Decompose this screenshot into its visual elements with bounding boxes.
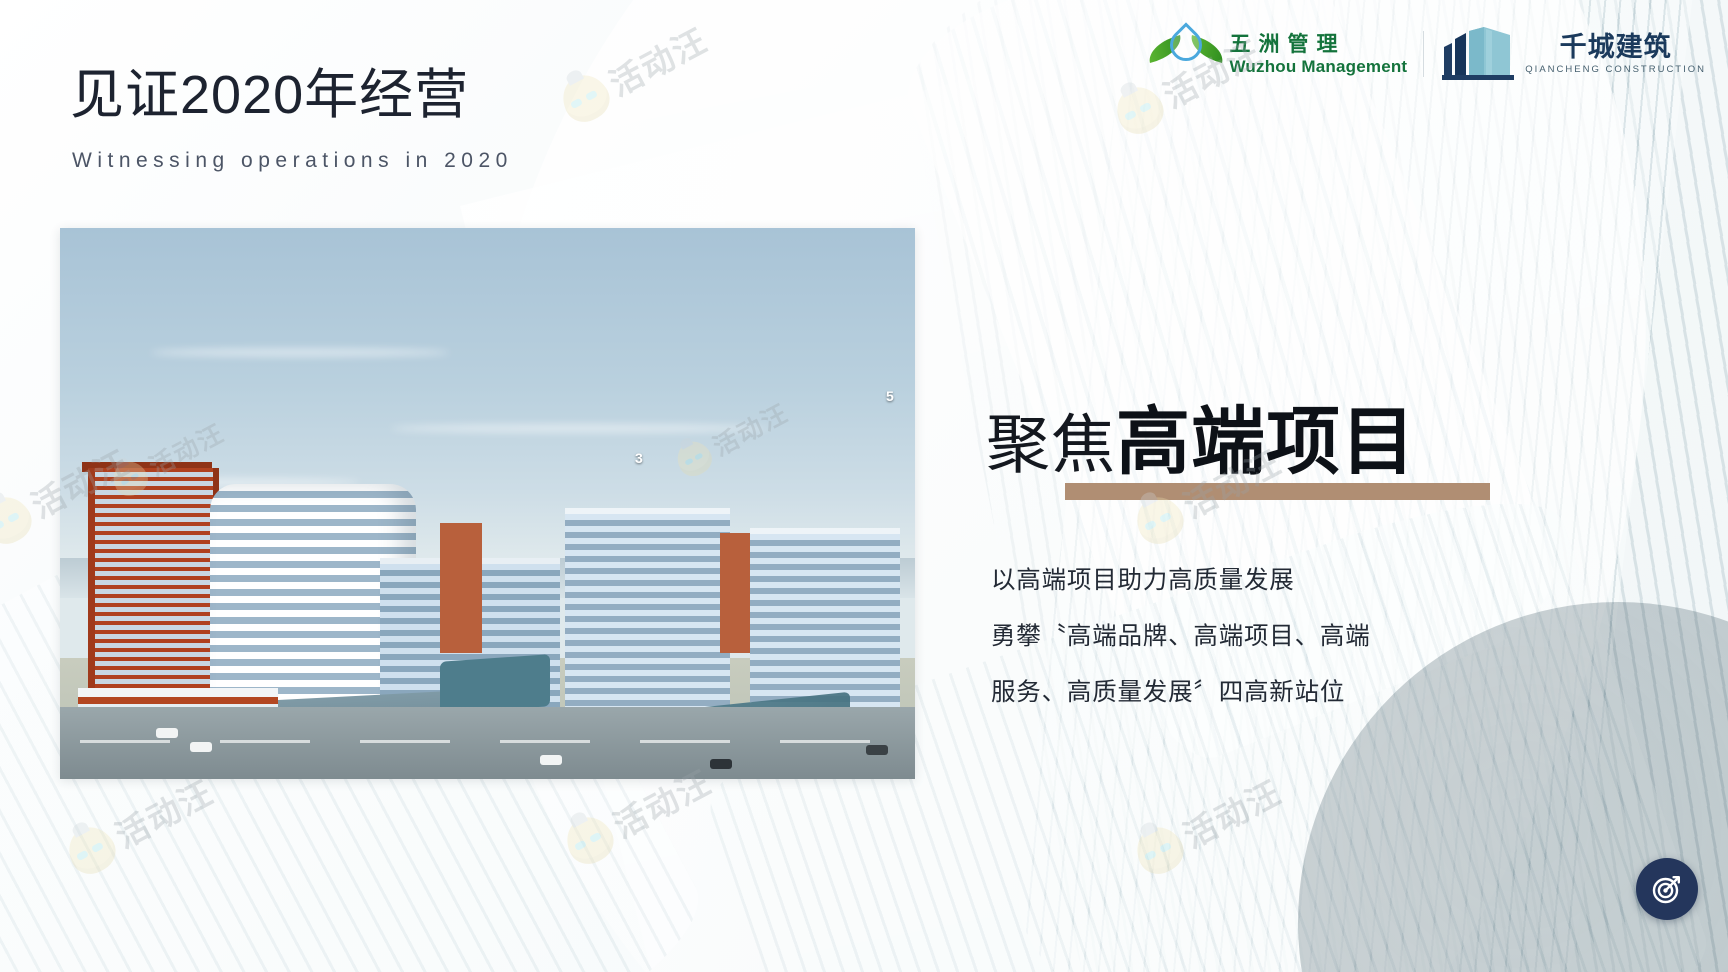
photo-pool: [440, 654, 550, 714]
logo-wuzhou-management: 五洲管理 Wuzhou Management: [1147, 23, 1407, 85]
waterdrop-icon: [1164, 22, 1209, 67]
logo-wuzhou-en: Wuzhou Management: [1229, 58, 1407, 75]
headline-prefix: 聚焦: [986, 409, 1116, 481]
body-line: 以高端项目助力高质量发展: [991, 553, 1421, 609]
logo-bar: 五洲管理 Wuzhou Management 千城建筑 QIANCHEN: [1147, 18, 1706, 90]
leaf-waterdrop-icon: [1147, 23, 1225, 85]
watermark: 活动汪: [1128, 766, 1289, 882]
photo-road-marking: [80, 740, 170, 743]
photo-road-marking: [360, 740, 450, 743]
photo-car: [190, 742, 212, 752]
logo-qiancheng-cn: 千城建筑: [1560, 34, 1672, 61]
logo-qiancheng-text: 千城建筑 QIANCHENG CONSTRUCTION: [1525, 34, 1706, 75]
logo-wuzhou-text: 五洲管理 Wuzhou Management: [1229, 34, 1407, 75]
building-icon-svg: [1440, 25, 1516, 83]
body-paragraph: 以高端项目助力高质量发展 勇攀〝高端品牌、高端项目、高端 服务、高质量发展〞四高…: [991, 553, 1421, 721]
watermark-mascot-icon: [554, 67, 616, 129]
photo-building-brick-a: [440, 523, 482, 653]
photo-road-marking: [220, 740, 310, 743]
watermark-mascot-icon: [60, 819, 122, 881]
building-icon: [1440, 25, 1516, 83]
watermark-mascot-icon: [0, 489, 39, 551]
watermark: 活动汪: [60, 766, 221, 882]
headline-emphasis: 高端项目: [1116, 400, 1416, 483]
logo-qiancheng-construction: 千城建筑 QIANCHENG CONSTRUCTION: [1440, 25, 1706, 83]
photo-car: [156, 728, 178, 738]
photo-road-marking: [640, 740, 730, 743]
page-subtitle: Witnessing operations in 2020: [72, 150, 513, 171]
project-photo: 3 5: [60, 228, 915, 779]
watermark-text: 活动汪: [1174, 766, 1289, 858]
page-title: 见证2020年经营: [70, 68, 469, 122]
logo-qiancheng-en: QIANCHENG CONSTRUCTION: [1525, 65, 1706, 75]
watermark-mascot-icon: [1128, 819, 1190, 881]
watermark-mascot-icon: [558, 809, 620, 871]
watermark-text: 活动汪: [106, 766, 221, 858]
target-badge[interactable]: [1636, 858, 1698, 920]
watermark-text: 活动汪: [600, 14, 715, 106]
photo-road: [60, 707, 915, 779]
headline: 聚焦高端项目: [986, 382, 1416, 489]
logo-divider: [1423, 31, 1424, 77]
photo-cloud: [390, 424, 770, 433]
body-line: 勇攀〝高端品牌、高端项目、高端: [991, 609, 1421, 665]
logo-wuzhou-cn: 五洲管理: [1229, 34, 1407, 55]
photo-road-marking: [500, 740, 590, 743]
presentation-slide: 见证2020年经营 Witnessing operations in 2020 …: [0, 0, 1728, 972]
photo-number-tag: 5: [886, 388, 894, 404]
body-line: 服务、高质量发展〞四高新站位: [991, 665, 1421, 721]
photo-road-marking: [780, 740, 870, 743]
watermark: 活动汪: [554, 14, 715, 130]
target-arrow-icon: [1650, 872, 1684, 906]
photo-car: [540, 755, 562, 765]
photo-car: [710, 759, 732, 769]
photo-cloud: [150, 348, 450, 357]
photo-car: [866, 745, 888, 755]
photo-number-tag: 3: [635, 450, 643, 466]
